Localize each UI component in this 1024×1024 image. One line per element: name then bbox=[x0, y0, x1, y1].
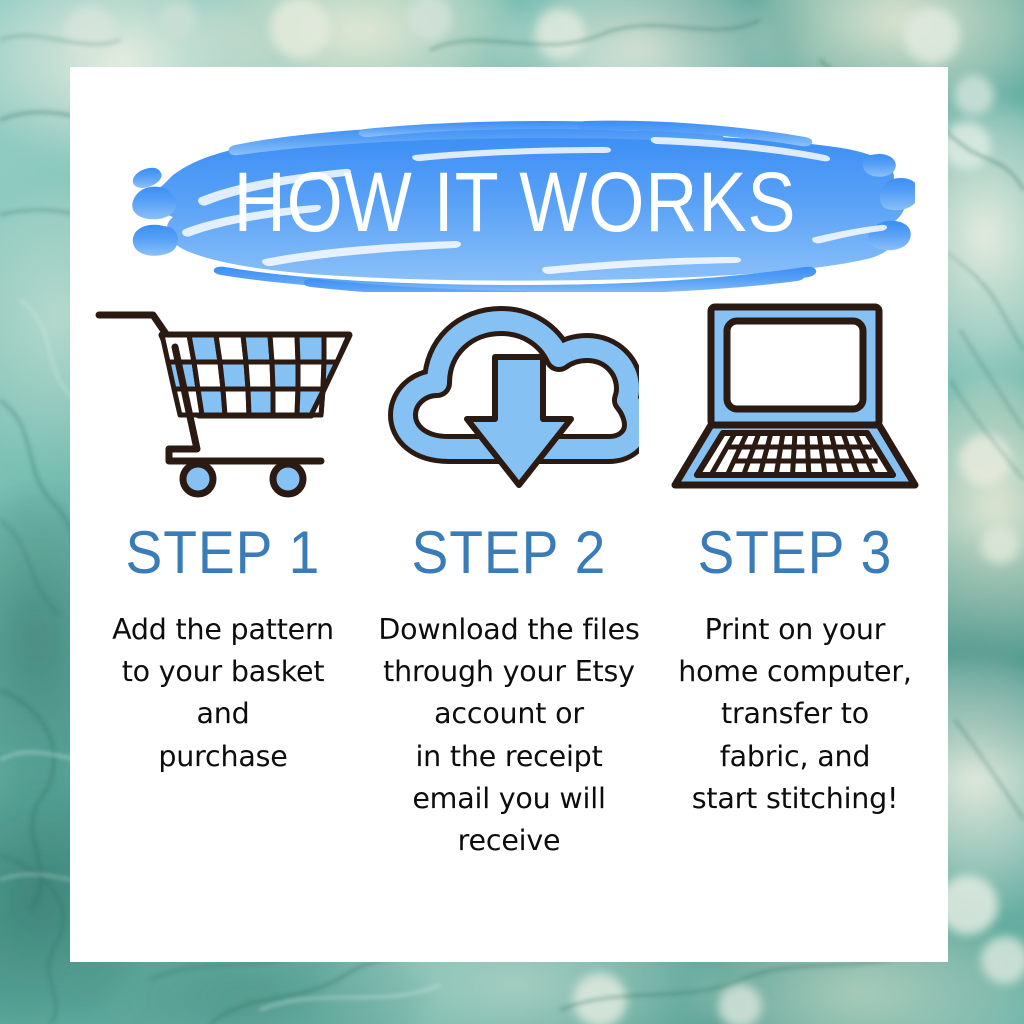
step-text-3: Print on your home computer, transfer to… bbox=[659, 609, 931, 820]
steps-row: STEP 1 Add the pattern to your basket an… bbox=[80, 299, 938, 862]
step-label-2: STEP 2 bbox=[412, 523, 607, 583]
step-text-line: Download the files bbox=[373, 609, 645, 651]
step-text-line: receive bbox=[373, 820, 645, 862]
step-text-line: to your basket bbox=[87, 651, 359, 693]
step-text-line: through your Etsy bbox=[373, 651, 645, 693]
step-text-line: transfer to bbox=[659, 693, 931, 735]
title-banner: HOW IT WORKS bbox=[115, 117, 915, 292]
step-label-3: STEP 3 bbox=[698, 523, 893, 583]
cloud-download-icon bbox=[379, 299, 639, 499]
step-text-line: purchase bbox=[87, 736, 359, 778]
content-card: HOW IT WORKS bbox=[70, 67, 948, 962]
step-text-line: Add the pattern bbox=[87, 609, 359, 651]
step-text-line: home computer, bbox=[659, 651, 931, 693]
step-text-line: fabric, and bbox=[659, 736, 931, 778]
page-title: HOW IT WORKS bbox=[171, 117, 859, 292]
step-column-1: STEP 1 Add the pattern to your basket an… bbox=[80, 299, 366, 778]
step-text-line: and bbox=[87, 693, 359, 735]
step-text-1: Add the pattern to your basket and purch… bbox=[87, 609, 359, 778]
step-text-line: account or bbox=[373, 693, 645, 735]
step-text-2: Download the files through your Etsy acc… bbox=[373, 609, 645, 862]
step-column-3: STEP 3 Print on your home computer, tran… bbox=[652, 299, 938, 820]
step-text-line: email you will bbox=[373, 778, 645, 820]
step-column-2: STEP 2 Download the files through your E… bbox=[366, 299, 652, 862]
shopping-cart-icon bbox=[93, 299, 353, 499]
step-text-line: in the receipt bbox=[373, 736, 645, 778]
step-text-line: Print on your bbox=[659, 609, 931, 651]
laptop-icon bbox=[665, 299, 925, 499]
step-text-line: start stitching! bbox=[659, 778, 931, 820]
step-label-1: STEP 1 bbox=[126, 523, 321, 583]
